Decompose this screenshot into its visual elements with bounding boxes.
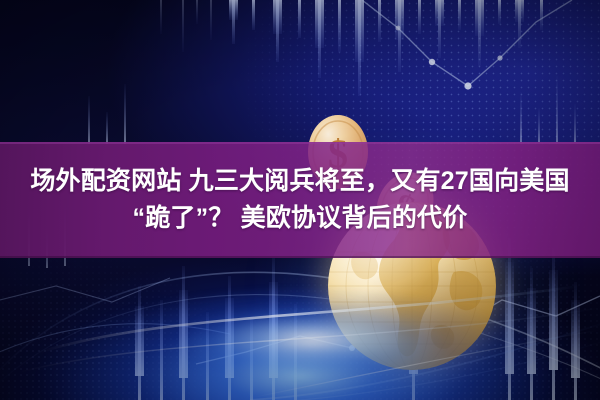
- headline-line-1: 场外配资网站 九三大阅兵将至，又有27国向美国: [30, 164, 569, 199]
- banner-image: $ $: [0, 0, 600, 400]
- headline-line-2: “跪了”？ 美欧协议背后的代价: [133, 201, 468, 236]
- headline-text: 场外配资网站 九三大阅兵将至，又有27国向美国 “跪了”？ 美欧协议背后的代价: [0, 142, 600, 258]
